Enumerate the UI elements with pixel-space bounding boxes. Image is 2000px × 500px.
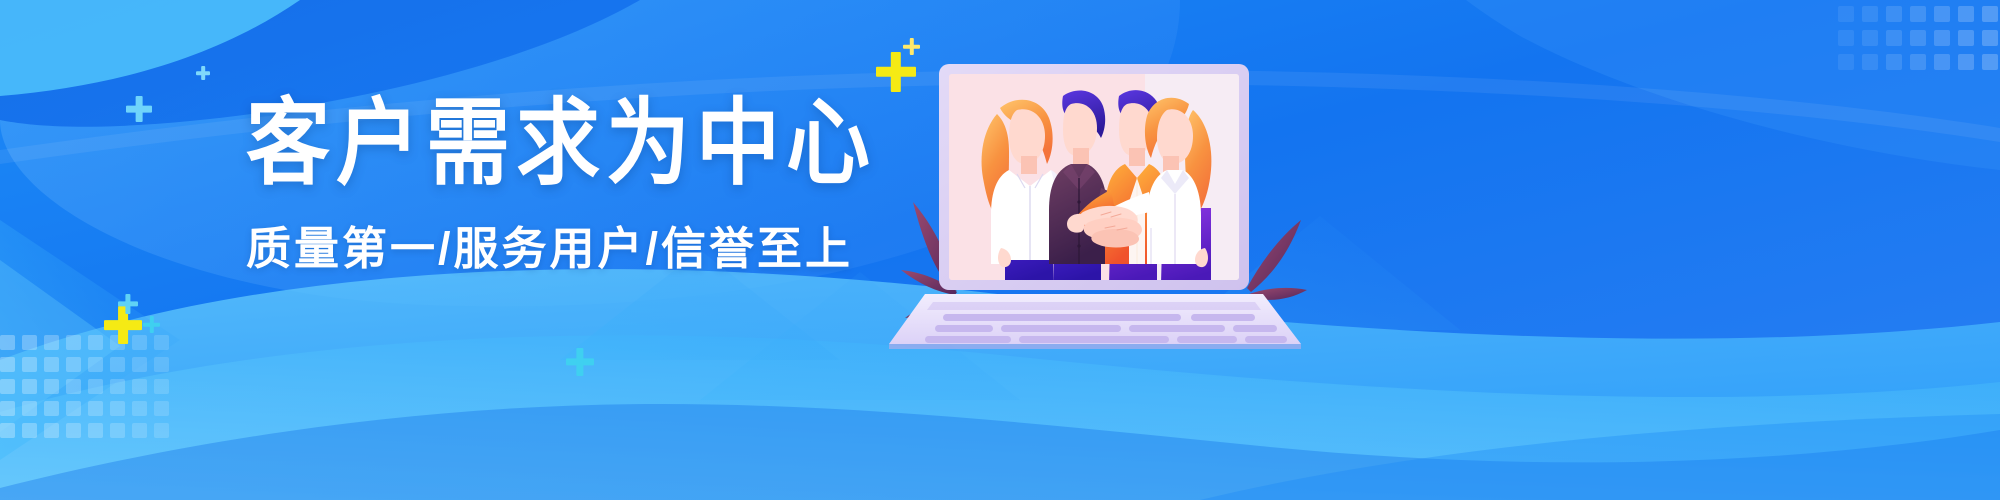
dot-grid-bottom-left: [0, 335, 176, 445]
laptop-illustration: [905, 52, 1325, 352]
plus-yellow-large-top-icon: [876, 52, 916, 92]
plus-yellow-small-top-icon: [903, 38, 920, 55]
dot-grid-top-right: [1838, 0, 2000, 78]
plus-cyan-tiny-icon: [196, 66, 210, 80]
page-title: 客户需求为中心: [246, 96, 886, 190]
page-subtitle: 质量第一/服务用户/信誉至上: [246, 226, 886, 271]
plus-cyan-center-bottom-icon: [566, 348, 594, 376]
plus-cyan-upper-icon: [126, 96, 152, 122]
leaf-decoration-right: [1247, 220, 1307, 300]
plus-cyan-small-left-icon: [143, 316, 160, 333]
promo-banner: 客户需求为中心 质量第一/服务用户/信誉至上: [0, 0, 2000, 500]
plus-cyan-lower-icon: [118, 294, 138, 314]
laptop-keyboard: [889, 294, 1301, 349]
teamwork-photo: [949, 74, 1239, 284]
headline-group: 客户需求为中心 质量第一/服务用户/信誉至上: [246, 96, 886, 271]
